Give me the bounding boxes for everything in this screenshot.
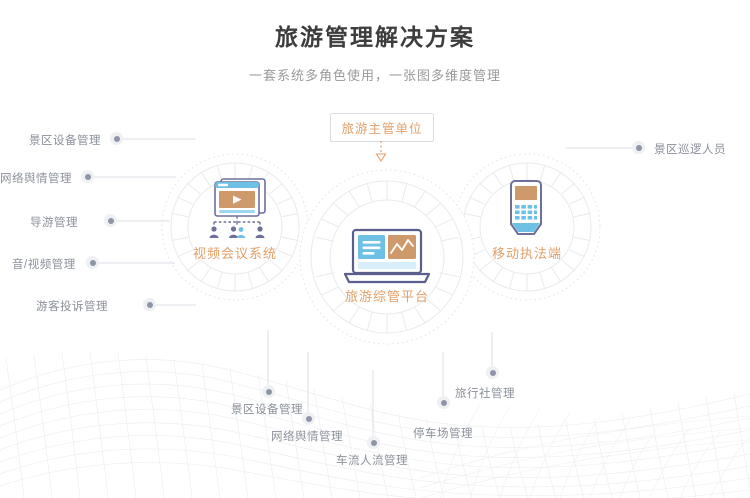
left-label-3: 导游管理 — [30, 214, 78, 230]
bottom-label-3: 车流人流管理 — [336, 452, 408, 468]
bottom-label-5: 旅行社管理 — [455, 385, 515, 401]
connector-dot-bottom-4[interactable] — [437, 396, 450, 409]
node-label-mobile-enforcement: 移动执法端 — [447, 243, 607, 262]
connector-dot-left-2[interactable] — [81, 170, 94, 183]
page-subtitle: 一套系统多角色使用，一张图多维度管理 — [0, 65, 750, 84]
connector-dot-left-1[interactable] — [110, 132, 123, 145]
connector-dot-bottom-2[interactable] — [302, 412, 315, 425]
node-label-video-conference: 视频会议系统 — [155, 243, 315, 262]
infographic-canvas: 旅游管理解决方案 一套系统多角色使用，一张图多维度管理 — [0, 0, 750, 498]
laptop-dashboard-icon — [340, 228, 434, 286]
left-label-4: 音/视频管理 — [12, 256, 76, 272]
connector-dot-left-5[interactable] — [143, 298, 156, 311]
connector-dot-bottom-5[interactable] — [486, 366, 499, 379]
connector-dot-bottom-1[interactable] — [262, 385, 275, 398]
left-label-1: 景区设备管理 — [29, 132, 101, 148]
connector-dot-bottom-3[interactable] — [367, 436, 380, 449]
bottom-label-2: 网络舆情管理 — [271, 428, 343, 444]
arrow-down-dotted-icon — [373, 141, 389, 165]
page-title: 旅游管理解决方案 — [0, 24, 750, 52]
authority-label: 旅游主管单位 — [341, 118, 422, 137]
video-conference-icon — [199, 176, 273, 240]
node-label-tourism-platform: 旅游综管平台 — [307, 286, 467, 305]
left-label-2: 网络舆情管理 — [0, 170, 72, 186]
connector-dot-right-1[interactable] — [632, 141, 645, 154]
authority-box[interactable]: 旅游主管单位 — [330, 113, 434, 142]
bottom-label-4: 停车场管理 — [413, 425, 473, 441]
page-header: 旅游管理解决方案 一套系统多角色使用，一张图多维度管理 — [0, 0, 750, 84]
right-label-1: 景区巡逻人员 — [654, 141, 726, 157]
connector-dot-left-3[interactable] — [104, 214, 117, 227]
bottom-label-1: 景区设备管理 — [231, 401, 303, 417]
connector-dot-left-4[interactable] — [86, 256, 99, 269]
left-label-5: 游客投诉管理 — [36, 298, 108, 314]
mobile-device-icon — [503, 180, 549, 242]
